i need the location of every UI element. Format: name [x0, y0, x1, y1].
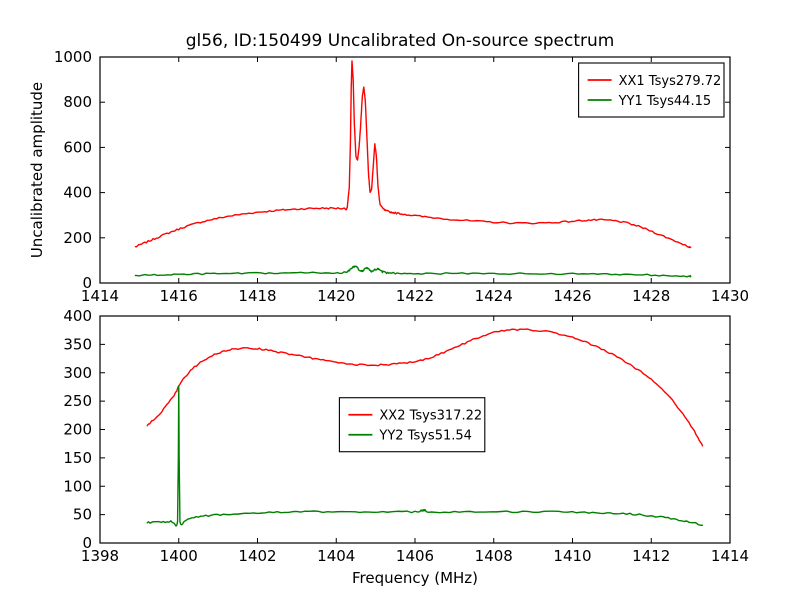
- x-tick-label: 1418: [238, 287, 276, 305]
- plot-canvas: gl56, ID:150499 Uncalibrated On-source s…: [0, 0, 800, 600]
- x-tick-label: 1428: [632, 287, 670, 305]
- x-tick-label: 1416: [160, 287, 198, 305]
- y-tick-label: 0: [82, 534, 92, 552]
- legend-label: XX1 Tsys279.72: [619, 74, 722, 89]
- page-title: gl56, ID:150499 Uncalibrated On-source s…: [186, 31, 615, 51]
- x-tick-label: 1430: [711, 287, 749, 305]
- x-tick-label: 1414: [711, 547, 749, 565]
- y-tick-label: 100: [63, 477, 92, 495]
- x-tick-label: 1412: [632, 547, 670, 565]
- x-tick-label: 1426: [553, 287, 591, 305]
- legend-label: YY1 Tsys44.15: [618, 94, 712, 109]
- x-tick-label: 1410: [553, 547, 591, 565]
- y-tick-label: 200: [63, 229, 92, 247]
- x-axis-title: Frequency (MHz): [352, 569, 478, 587]
- x-tick-label: 1420: [317, 287, 355, 305]
- y-tick-label: 400: [63, 307, 92, 325]
- y-tick-label: 150: [63, 449, 92, 467]
- y-tick-label: 50: [73, 506, 92, 524]
- y-tick-label: 0: [82, 274, 92, 292]
- x-tick-label: 1404: [317, 547, 355, 565]
- legend-label: YY2 Tsys51.54: [378, 429, 472, 444]
- y-tick-label: 600: [63, 138, 92, 156]
- y-tick-label: 300: [63, 364, 92, 382]
- x-tick-label: 1406: [396, 547, 434, 565]
- x-tick-label: 1402: [238, 547, 276, 565]
- y-tick-label: 350: [63, 335, 92, 353]
- y-tick-label: 400: [63, 184, 92, 202]
- y-axis-title: Uncalibrated amplitude: [28, 82, 46, 258]
- x-tick-label: 1422: [396, 287, 434, 305]
- y-tick-label: 200: [63, 421, 92, 439]
- y-tick-label: 800: [63, 93, 92, 111]
- x-tick-label: 1424: [475, 287, 513, 305]
- x-tick-label: 1408: [475, 547, 513, 565]
- legend-upper-spectrum: XX1 Tsys279.72YY1 Tsys44.15: [579, 63, 724, 117]
- axes-upper-spectrum: 1414141614181420142214241426142814300200…: [28, 48, 749, 305]
- y-tick-label: 1000: [54, 48, 92, 66]
- legend-label: XX2 Tsys317.22: [379, 409, 482, 424]
- spectrum-figure: gl56, ID:150499 Uncalibrated On-source s…: [0, 0, 800, 600]
- series-line-yy1: [135, 266, 690, 277]
- y-tick-label: 250: [63, 392, 92, 410]
- axes-lower-spectrum: 1398140014021404140614081410141214140501…: [63, 307, 749, 587]
- x-tick-label: 1400: [160, 547, 198, 565]
- legend-lower-spectrum: XX2 Tsys317.22YY2 Tsys51.54: [339, 398, 484, 452]
